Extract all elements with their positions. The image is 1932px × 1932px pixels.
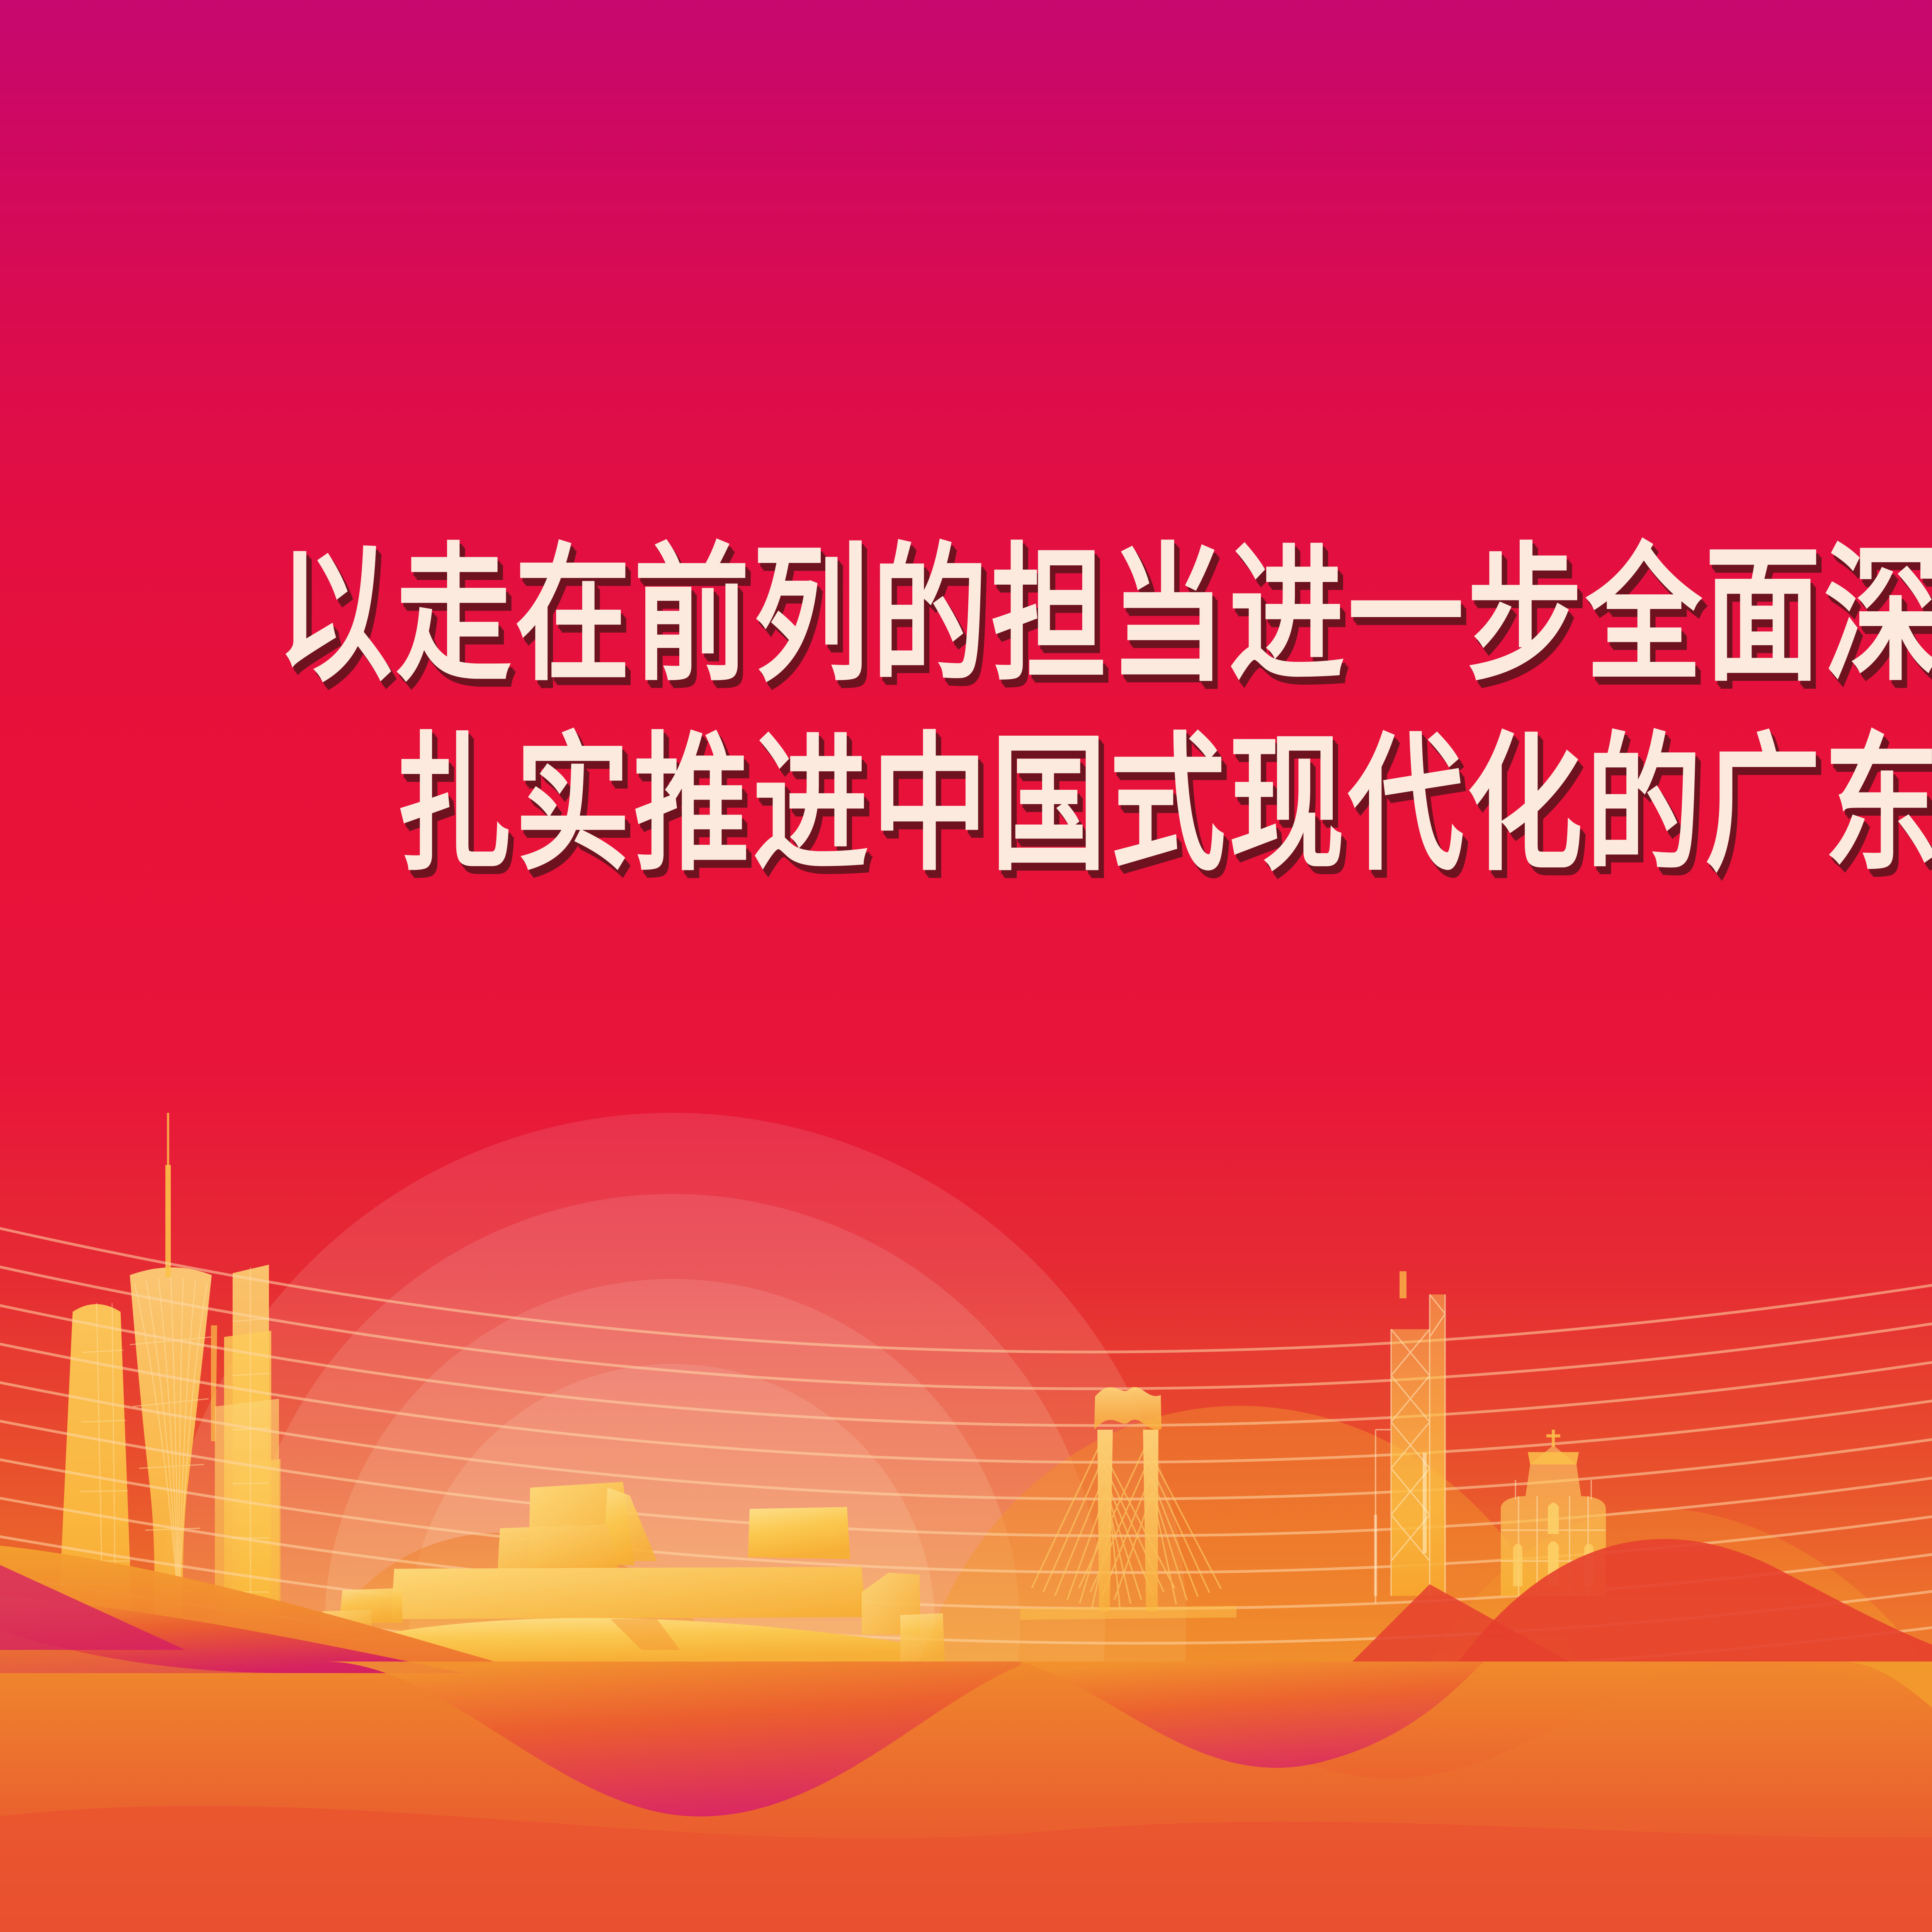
ocean-waves (0, 0, 1932, 1932)
title-block: 以走在前列的担当进一步全面深化改革 扎实推进中国式现代化的广东实践 (0, 541, 1932, 846)
poster-canvas: 以走在前列的担当进一步全面深化改革 扎实推进中国式现代化的广东实践 (0, 0, 1932, 1932)
title-line-2: 扎实推进中国式现代化的广东实践 (0, 730, 1932, 879)
title-line-1: 以走在前列的担当进一步全面深化改革 (0, 541, 1932, 689)
